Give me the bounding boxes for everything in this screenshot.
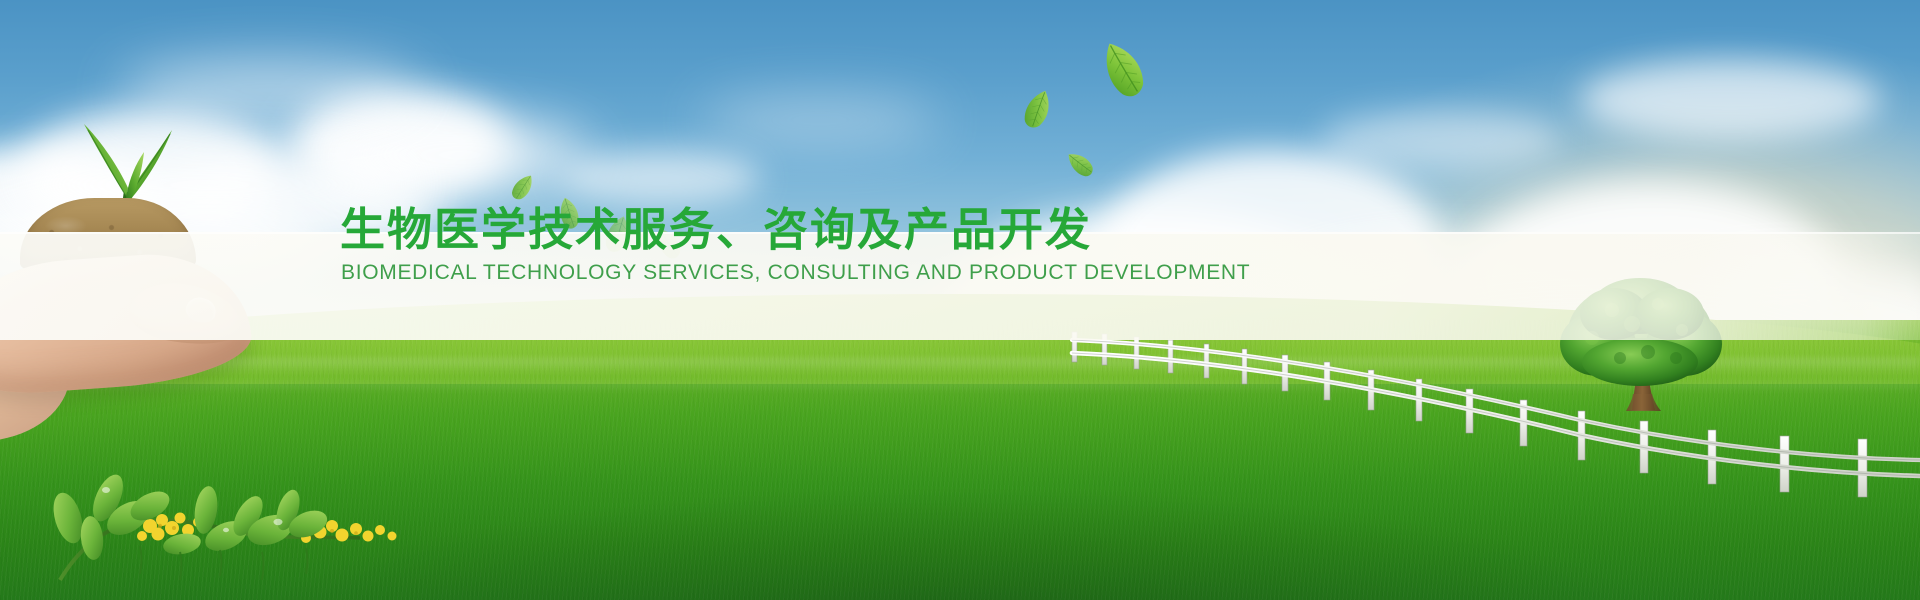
page-title: 生物医学技术服务、咨询及产品开发 [340, 207, 1092, 252]
page-subtitle: BIOMEDICAL TECHNOLOGY SERVICES, CONSULTI… [341, 262, 1250, 283]
cloud-wisp-4 [700, 95, 940, 145]
cloud-wisp-3 [560, 150, 760, 205]
cloud-wisp-6 [1320, 110, 1560, 170]
fence [1060, 320, 1920, 500]
cloud-wisp-5 [1580, 60, 1880, 140]
hero-banner: 生物医学技术服务、咨询及产品开发 BIOMEDICAL TECHNOLOGY S… [0, 0, 1920, 600]
